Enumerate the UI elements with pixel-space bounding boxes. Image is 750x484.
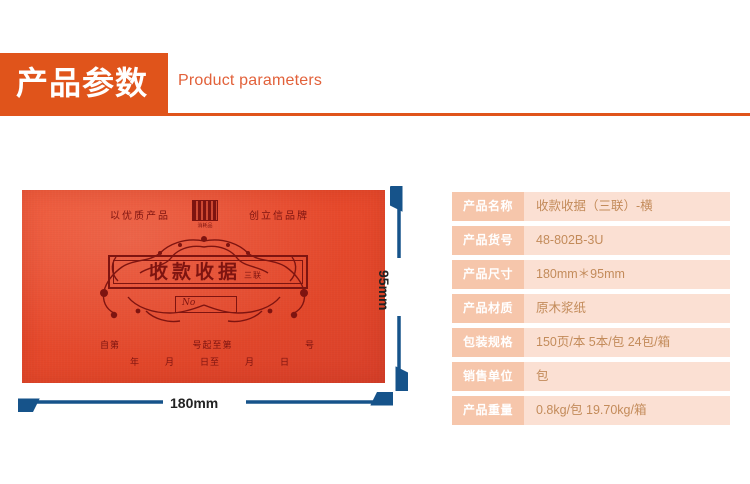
cover-date-line: 年 月 日至 月 日 [130,355,290,368]
serial-number-label: No [182,298,195,308]
table-row: 包装规格 150页/本 5本/包 24包/箱 [452,328,730,357]
spec-label-product-size: 产品尺寸 [452,260,524,289]
receipt-book-cover: 以优质产品 消耗品 创立信品牌 [22,190,385,383]
spec-label-product-name: 产品名称 [452,192,524,221]
number-line-part-3: 号 [305,338,315,351]
spec-value-sales-unit: 包 [524,362,730,391]
table-row: 销售单位 包 [452,362,730,391]
date-line-part-4: 月 [245,355,255,368]
date-line-part-5: 日 [280,355,290,368]
brand-logo-mark [192,200,218,221]
product-image: 以优质产品 消耗品 创立信品牌 [22,190,385,383]
spec-label-product-code: 产品货号 [452,226,524,255]
header-divider-rule [0,113,750,116]
table-row: 产品名称 收款收据（三联）-横 [452,192,730,221]
cover-number-line: 自第 号起至第 号 [100,338,315,351]
spec-label-sales-unit: 销售单位 [452,362,524,391]
table-row: 产品材质 原木浆纸 [452,294,730,323]
receipt-title-suffix: 三联 [244,270,262,281]
page-title-chinese: 产品参数 [16,59,166,107]
table-row: 产品尺寸 180mm＊95mm [452,260,730,289]
height-dimension-arrow [390,186,408,391]
brand-logo-icon: 消耗品 [192,200,218,230]
table-row: 产品重量 0.8kg/包 19.70kg/箱 [452,396,730,425]
table-row: 产品货号 48-802B-3U [452,226,730,255]
spec-value-packing-spec: 150页/本 5本/包 24包/箱 [524,328,730,357]
date-line-part-2: 月 [165,355,175,368]
cover-slogan-left: 以优质产品 [110,207,170,222]
width-dimension-label: 180mm [170,395,218,411]
number-line-part-1: 自第 [100,338,120,351]
spec-value-product-code: 48-802B-3U [524,226,730,255]
spec-value-product-weight: 0.8kg/包 19.70kg/箱 [524,396,730,425]
spec-value-product-material: 原木浆纸 [524,294,730,323]
number-line-part-2: 号起至第 [192,338,232,351]
spec-label-packing-spec: 包装规格 [452,328,524,357]
brand-logo-caption: 消耗品 [192,222,218,229]
cover-slogan-right: 创立信品牌 [249,207,309,222]
spec-label-product-material: 产品材质 [452,294,524,323]
spec-label-product-weight: 产品重量 [452,396,524,425]
section-header: 产品参数 Product parameters [0,53,750,113]
page-title-english: Product parameters [178,72,322,90]
spec-value-product-name: 收款收据（三联）-横 [524,192,730,221]
spec-value-product-size: 180mm＊95mm [524,260,730,289]
height-dimension-label: 95mm [376,270,392,310]
product-parameters-table: 产品名称 收款收据（三联）-横 产品货号 48-802B-3U 产品尺寸 180… [452,192,730,430]
date-line-part-1: 年 [130,355,140,368]
date-line-part-3: 日至 [200,355,220,368]
